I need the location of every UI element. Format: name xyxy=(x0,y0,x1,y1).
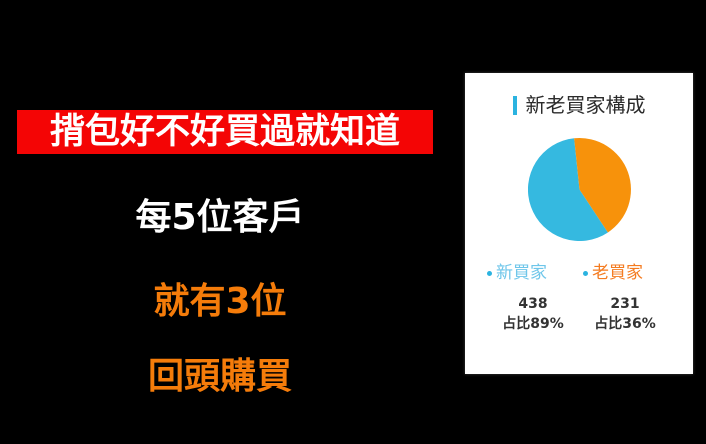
value-count-old-buyers: 231 xyxy=(579,294,671,314)
card-title: 新老買家構成 xyxy=(465,95,693,115)
chart-legend: 新買家 老買家 xyxy=(465,265,693,282)
pie-chart xyxy=(528,138,631,241)
value-count-new-buyers: 438 xyxy=(487,294,579,314)
headline-banner: 揹包好不好買過就知道 xyxy=(17,110,433,154)
buyer-composition-card: 新老買家構成 新買家 老買家 438 占比89% xyxy=(465,73,693,374)
value-percent-old-buyers: 占比36% xyxy=(579,314,671,334)
pie-chart-svg xyxy=(528,138,631,241)
title-accent-bar-icon xyxy=(513,96,517,115)
legend-item-old-buyers: 老買家 xyxy=(583,265,671,282)
chart-values: 438 占比89% 231 占比36% xyxy=(465,294,693,335)
card-title-text: 新老買家構成 xyxy=(526,95,646,115)
promo-line-count: 就有3位 xyxy=(0,282,440,322)
legend-dot-icon-new-buyers xyxy=(487,271,492,276)
legend-dot-icon-old-buyers xyxy=(583,271,588,276)
value-column-new-buyers: 438 占比89% xyxy=(487,294,579,335)
legend-item-new-buyers: 新買家 xyxy=(487,265,575,282)
headline-banner-text: 揹包好不好買過就知道 xyxy=(50,115,400,150)
legend-label-old-buyers: 老買家 xyxy=(592,265,643,282)
promo-line-repeat-purchase: 回頭購買 xyxy=(0,357,440,397)
legend-label-new-buyers: 新買家 xyxy=(496,265,547,282)
promotional-infographic: 揹包好不好買過就知道 每5位客戶 就有3位 回頭購買 新老買家構成 新買家 xyxy=(0,0,706,444)
value-percent-new-buyers: 占比89% xyxy=(487,314,579,334)
promo-line-customers: 每5位客戶 xyxy=(0,198,440,238)
value-column-old-buyers: 231 占比36% xyxy=(579,294,671,335)
